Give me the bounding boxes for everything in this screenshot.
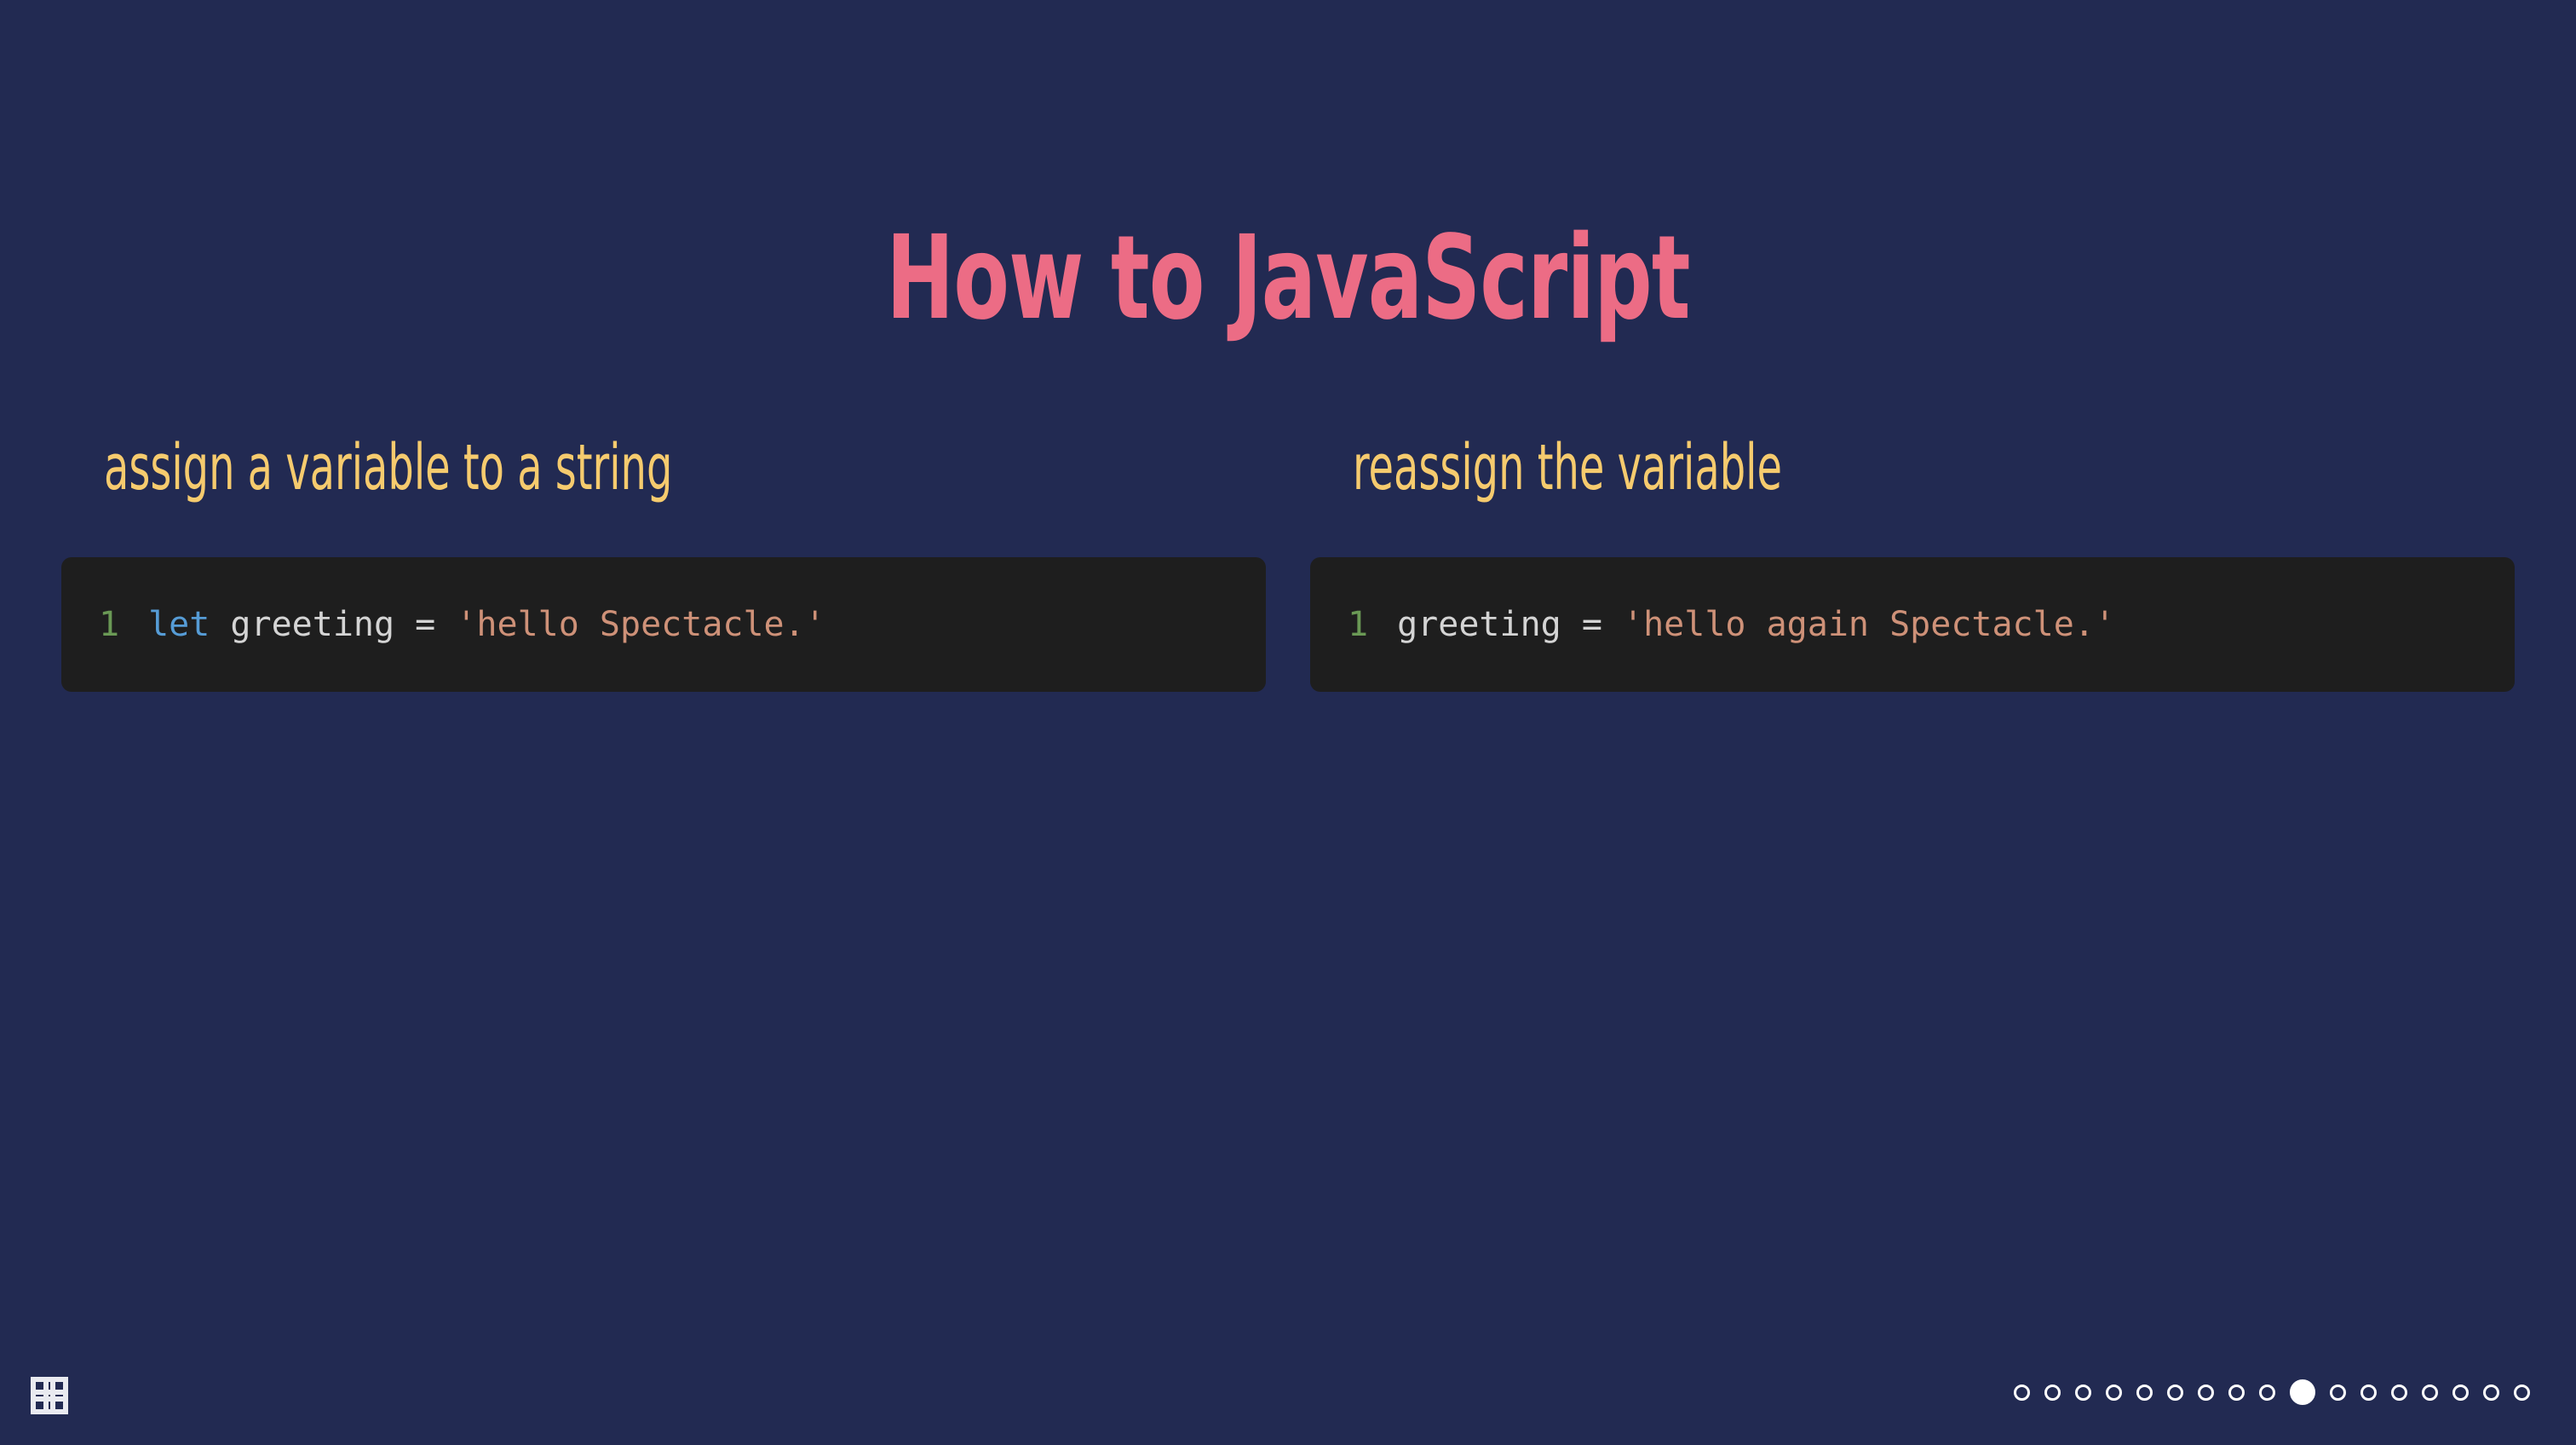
- progress-dot[interactable]: [2198, 1385, 2214, 1401]
- progress-dot[interactable]: [2167, 1385, 2183, 1401]
- code-block-reassign: 1 greeting = 'hello again Spectacle.': [1310, 557, 2515, 692]
- page-title: How to JavaScript: [284, 221, 2293, 337]
- progress-dot[interactable]: [2514, 1385, 2530, 1401]
- progress-dot[interactable]: [2014, 1385, 2030, 1401]
- progress-dot[interactable]: [2422, 1385, 2438, 1401]
- progress-dot[interactable]: [2483, 1385, 2499, 1401]
- column-heading: assign a variable to a string: [104, 435, 940, 503]
- presentation-slide: How to JavaScript assign a variable to a…: [0, 0, 2576, 1445]
- progress-dot[interactable]: [2452, 1385, 2469, 1401]
- code-token-string: 'hello again Spectacle.': [1623, 599, 2115, 650]
- code-token-plain: greeting =: [210, 599, 456, 650]
- code-line-number: 1: [1348, 599, 1368, 650]
- code-token-keyword: let: [148, 599, 210, 650]
- slide-progress-dots[interactable]: [2014, 1373, 2530, 1411]
- progress-dot-active[interactable]: [2290, 1379, 2315, 1405]
- code-token-string: 'hello Spectacle.': [456, 599, 825, 650]
- code-line: 1 greeting = 'hello again Spectacle.': [1348, 599, 2115, 650]
- code-block-assign: 1 let greeting = 'hello Spectacle.': [61, 557, 1266, 692]
- column-heading: reassign the variable: [1353, 435, 2189, 503]
- progress-dot[interactable]: [2136, 1385, 2153, 1401]
- code-token-plain: greeting =: [1397, 599, 1623, 650]
- code-line-number: 1: [99, 599, 119, 650]
- content-columns: assign a variable to a string 1 let gree…: [61, 435, 2515, 692]
- column-assign-variable: assign a variable to a string 1 let gree…: [61, 435, 1266, 692]
- progress-dot[interactable]: [2228, 1385, 2245, 1401]
- progress-dot[interactable]: [2075, 1385, 2091, 1401]
- progress-dot[interactable]: [2330, 1385, 2346, 1401]
- progress-dot[interactable]: [2360, 1385, 2377, 1401]
- progress-dot[interactable]: [2106, 1385, 2122, 1401]
- progress-dot[interactable]: [2259, 1385, 2275, 1401]
- column-reassign-variable: reassign the variable 1 greeting = 'hell…: [1310, 435, 2515, 692]
- progress-dot[interactable]: [2391, 1385, 2407, 1401]
- fullscreen-icon[interactable]: [31, 1377, 68, 1414]
- progress-dot[interactable]: [2044, 1385, 2061, 1401]
- code-line: 1 let greeting = 'hello Spectacle.': [99, 599, 825, 650]
- fullscreen-corner-bottom-right: [43, 1390, 68, 1414]
